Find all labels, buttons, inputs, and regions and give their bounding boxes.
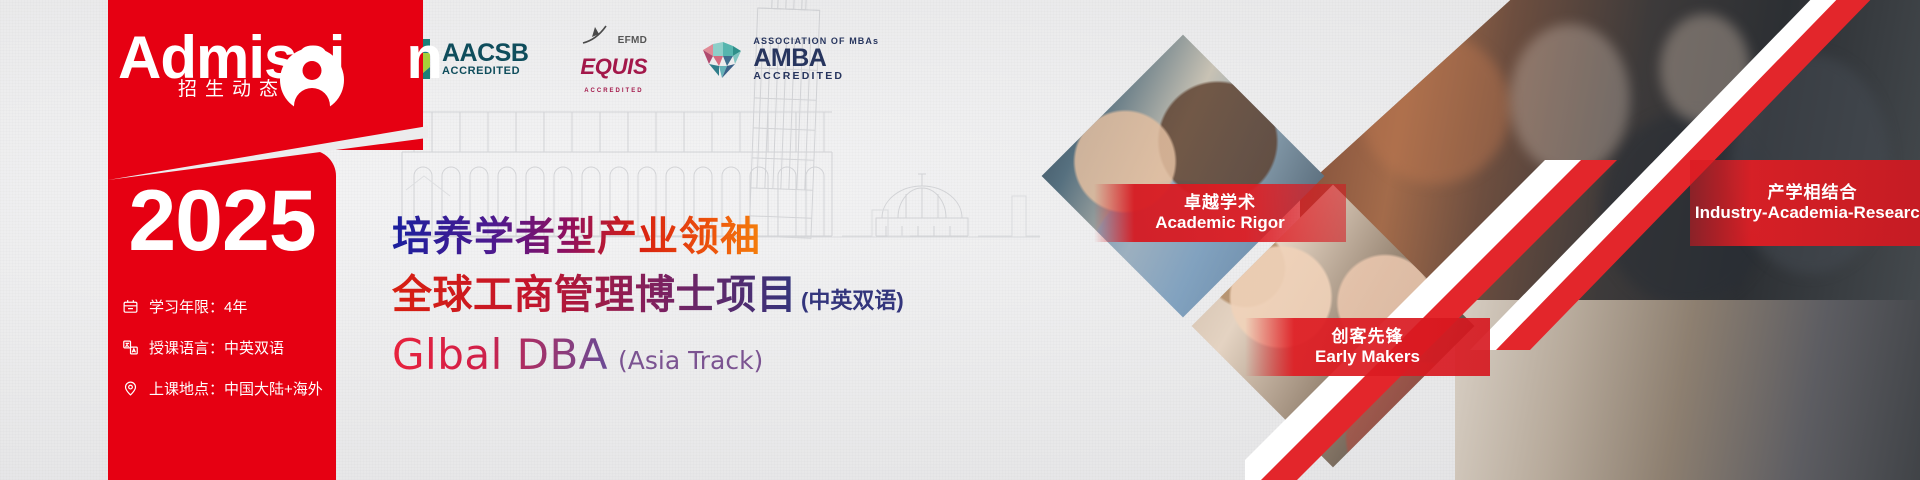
headline-line-1: 培养学者型产业领袖: [392, 214, 904, 260]
feature-label-cn: 产学相结合: [1690, 183, 1920, 203]
feature-band-academic-rigor: 卓越学术 Academic Rigor: [1094, 184, 1346, 242]
feature-label-cn: 卓越学术: [1094, 193, 1346, 213]
accreditation-amba: ASSOCIATION OF MBAs AMBA ACCREDITED: [699, 36, 879, 82]
fact-duration: 学习年限：4年: [122, 296, 323, 317]
fact-location: 上课地点：中国大陆+海外: [122, 378, 323, 399]
feature-label-en: Academic Rigor: [1094, 213, 1346, 233]
feature-band-early-makers: 创客先锋 Early Makers: [1245, 318, 1490, 376]
admission-banner: 卓越学术 Academic Rigor 产学相结合 Industry-Acade…: [0, 0, 1920, 480]
aacsb-sub: ACCREDITED: [442, 66, 528, 78]
language-icon: [122, 339, 139, 356]
program-facts-list: 学习年限：4年 授课语言：中英双语 上课地点：中国大陆+海外: [122, 296, 323, 399]
feature-label-cn: 创客先锋: [1245, 327, 1490, 347]
headline-line-2-suffix: (中英双语): [801, 283, 904, 315]
amba-name: AMBA: [753, 46, 879, 71]
equis-name: EQUIS: [580, 54, 647, 80]
feature-label-en: Industry-Academia-Research: [1690, 203, 1920, 223]
fact-language: 授课语言：中英双语: [122, 337, 323, 358]
fact-location-label: 上课地点：中国大陆+海外: [149, 378, 323, 399]
admission-logo: Admissin 招生动态: [118, 28, 442, 88]
amba-logo-icon: [699, 36, 745, 82]
feature-band-industry-academia: 产学相结合 Industry-Academia-Research: [1690, 160, 1920, 246]
efmd-label: EFMD: [618, 35, 648, 46]
aacsb-name: AACSB: [442, 40, 528, 66]
feature-label-en: Early Makers: [1245, 347, 1490, 367]
amba-sub: ACCREDITED: [753, 71, 879, 82]
headline-block: 培养学者型产业领袖 全球工商管理博士项目 (中英双语) Glbal DBA (A…: [392, 214, 904, 378]
year-2025: 2025: [114, 178, 330, 264]
fact-duration-label: 学习年限：4年: [149, 296, 247, 317]
red-panel-diagonal-cut: [108, 126, 428, 180]
person-in-circle-icon: [280, 48, 344, 112]
fact-language-label: 授课语言：中英双语: [149, 337, 284, 358]
logo-text-tail: n: [344, 24, 442, 91]
headline-line-3-suffix: (Asia Track): [618, 346, 763, 375]
location-pin-icon: [122, 380, 139, 397]
headline-line-2: 全球工商管理博士项目: [392, 272, 797, 318]
logo-subtitle-cn: 招生动态: [178, 80, 286, 99]
equis-sub: ACCREDITED: [584, 88, 643, 94]
headline-line-3: Glbal DBA: [392, 332, 608, 378]
equis-swoosh-icon: [581, 24, 613, 46]
calendar-icon: [122, 298, 139, 315]
accreditation-logos: AACSB ACCREDITED EFMD EQUIS ACCREDITED: [386, 24, 879, 94]
accreditation-equis: EFMD EQUIS ACCREDITED: [580, 24, 647, 94]
